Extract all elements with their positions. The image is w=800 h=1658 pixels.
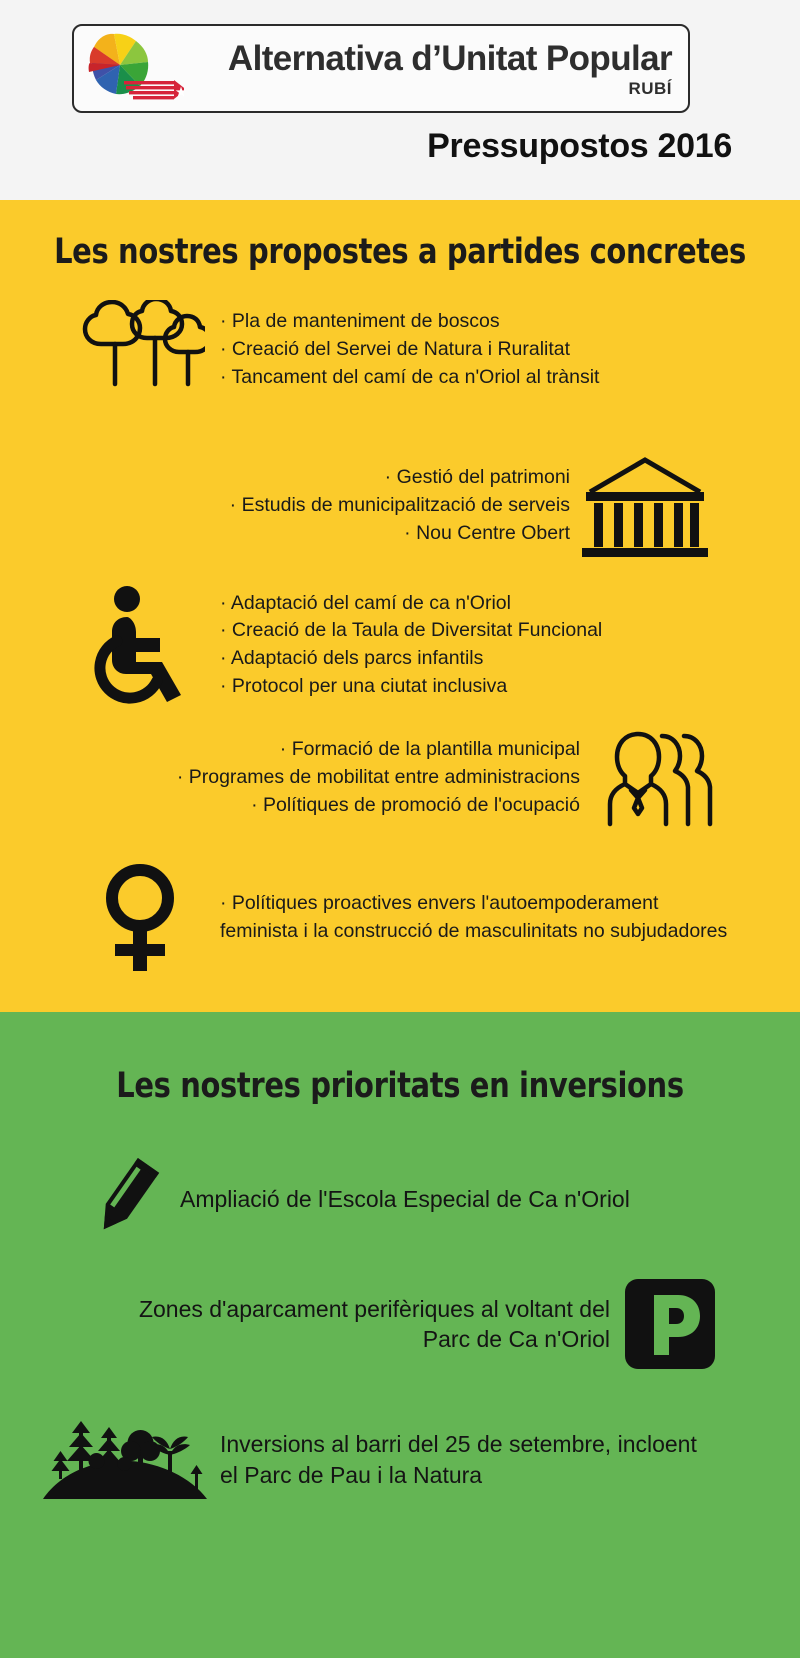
logo-subtitle: RUBÍ [184, 80, 672, 97]
investment-text-school: Ampliació de l'Escola Especial de Ca n'O… [180, 1184, 630, 1214]
wheelchair-accessibility-icon [60, 585, 220, 705]
list-item: · Programes de mobilitat entre administr… [177, 764, 580, 792]
pencil-icon [70, 1152, 180, 1247]
people-group-icon [580, 728, 720, 828]
list-item: · Estudis de municipalització de serveis [230, 492, 570, 520]
list-item: · Nou Centre Obert [230, 520, 570, 548]
investment-text-parking: Zones d'aparcament perifèriques al volta… [110, 1294, 610, 1355]
proposals-section: Les nostres propostes a partides concret… [0, 200, 800, 1012]
proposals-heading: Les nostres propostes a partides concret… [32, 200, 768, 272]
infographic-poster: Alternativa d’Unitat Popular RUBÍ Pressu… [0, 0, 800, 1658]
proposal-list-heritage: · Gestió del patrimoni · Estudis de muni… [230, 464, 570, 547]
investment-item-park: Inversions al barri del 25 de setembre, … [30, 1407, 730, 1512]
investment-item-school: Ampliació de l'Escola Especial de Ca n'O… [70, 1152, 730, 1247]
proposal-block-forests: · Pla de manteniment de boscos · Creació… [60, 300, 720, 400]
investment-item-parking: Zones d'aparcament perifèriques al volta… [70, 1277, 730, 1371]
list-item: · Formació de la plantilla municipal [177, 736, 580, 764]
list-item: · Pla de manteniment de boscos [220, 308, 599, 336]
proposal-block-feminism: · Polítiques proactives envers l'autoemp… [60, 860, 740, 975]
party-logo-box: Alternativa d’Unitat Popular RUBÍ [72, 24, 690, 113]
logo-title: Alternativa d’Unitat Popular [184, 41, 672, 76]
proposal-block-accessibility: · Adaptació del camí de ca n'Oriol · Cre… [60, 585, 720, 705]
poster-header: Alternativa d’Unitat Popular RUBÍ Pressu… [0, 0, 800, 200]
page-title: Pressupostos 2016 [427, 127, 732, 166]
list-item: · Creació de la Taula de Diversitat Func… [220, 617, 602, 645]
list-item: · Adaptació del camí de ca n'Oriol [220, 590, 602, 618]
list-item: · Polítiques de promoció de l'ocupació [177, 792, 580, 820]
logo-wordmark: Alternativa d’Unitat Popular RUBÍ [184, 41, 688, 97]
parking-p-icon [610, 1277, 730, 1371]
list-item: · Protocol per una ciutat inclusiva [220, 673, 602, 701]
list-item: · Adaptació dels parcs infantils [220, 645, 602, 673]
aup-pinwheel-map-logo [80, 29, 184, 109]
venus-female-symbol-icon [60, 860, 220, 975]
proposal-list-feminism: · Polítiques proactives envers l'autoemp… [220, 890, 740, 945]
investments-section: Les nostres prioritats en inversions Amp… [0, 1012, 800, 1658]
proposal-block-staff: · Formació de la plantilla municipal · P… [60, 728, 720, 828]
proposal-list-staff: · Formació de la plantilla municipal · P… [177, 736, 580, 819]
list-item: · Polítiques proactives envers l'autoemp… [220, 890, 740, 945]
park-trees-hill-icon [30, 1407, 220, 1512]
investment-text-park: Inversions al barri del 25 de setembre, … [220, 1429, 720, 1490]
list-item: · Tancament del camí de ca n'Oriol al tr… [220, 364, 599, 392]
investments-heading: Les nostres prioritats en inversions [32, 1012, 768, 1106]
proposal-list-accessibility: · Adaptació del camí de ca n'Oriol · Cre… [220, 590, 602, 701]
proposal-block-heritage: · Gestió del patrimoni · Estudis de muni… [60, 452, 720, 560]
proposal-list-forests: · Pla de manteniment de boscos · Creació… [220, 308, 599, 391]
trees-icon [60, 300, 220, 400]
list-item: · Creació del Servei de Natura i Ruralit… [220, 336, 599, 364]
classical-building-icon [570, 452, 720, 560]
list-item: · Gestió del patrimoni [230, 464, 570, 492]
